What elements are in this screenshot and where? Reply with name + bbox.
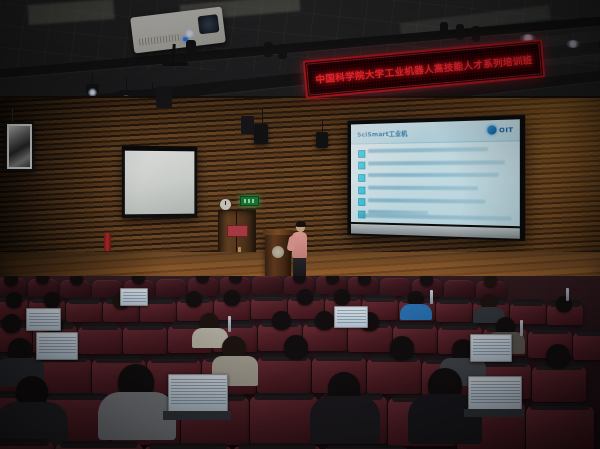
- seat-headrest: [253, 294, 285, 301]
- seat-headrest: [254, 393, 314, 400]
- slide-text-line: [368, 173, 498, 177]
- door-notice-sign: [227, 225, 248, 237]
- attendee-laptop: [334, 306, 368, 328]
- lectern-top: [263, 230, 293, 235]
- slide-logo-text: OIT: [499, 125, 513, 134]
- seat-headrest: [364, 295, 396, 302]
- attendee-head: [224, 290, 240, 306]
- lectern-emblem: [272, 246, 284, 258]
- slide-bullet-row: [358, 186, 513, 196]
- slide-text-line: [368, 160, 505, 165]
- water-bottle: [430, 290, 433, 304]
- fire-extinguisher: [104, 233, 111, 251]
- seat: [532, 366, 586, 402]
- attendee-laptop: [470, 334, 512, 362]
- slide-title: SciSmart工业机: [357, 128, 407, 139]
- spotlight-icon: [566, 40, 580, 48]
- hanging-loudspeaker: [254, 124, 268, 144]
- secondary-projection-screen: [122, 146, 197, 219]
- audience-seating: [0, 276, 600, 449]
- seat-headrest: [530, 403, 590, 410]
- seat: [78, 326, 122, 354]
- lectern: [265, 233, 291, 277]
- bullet-square-icon: [358, 174, 365, 182]
- seat: [66, 300, 102, 322]
- attendee-head: [297, 289, 313, 305]
- bullet-square-icon: [358, 162, 365, 170]
- slide-bullet-row: [358, 147, 513, 158]
- main-projection-screen: SciSmart工业机 OIT: [347, 115, 525, 241]
- track-light: [472, 26, 480, 42]
- slide-text-line: [368, 186, 478, 191]
- slide-logo: OIT: [488, 123, 514, 137]
- slide-text-line: [368, 198, 485, 203]
- presenter-hair: [296, 221, 306, 227]
- picture-hook: [12, 108, 13, 123]
- auditorium-photo-scene: 中国科学院大学工业机器人高技能人才系列培训班 SciSmart工业机 OIT: [0, 0, 600, 449]
- track-light: [264, 42, 273, 57]
- seat-headrest: [315, 354, 363, 361]
- attendee-shoulders: [400, 304, 432, 320]
- attendee-head: [2, 314, 21, 333]
- attendee-head: [6, 292, 22, 308]
- seat-headrest: [47, 393, 107, 400]
- seat: [573, 332, 600, 360]
- seat-headrest: [576, 329, 600, 336]
- seat: [367, 358, 421, 394]
- attendee-head: [334, 289, 350, 305]
- attendee-head: [556, 296, 572, 312]
- attendee-laptop: [36, 332, 78, 360]
- laptop-screen-content: [473, 337, 510, 355]
- attendee-head: [284, 335, 308, 359]
- laptop-screen-content: [171, 377, 226, 404]
- seat-headrest: [396, 322, 435, 329]
- track-light: [456, 24, 464, 40]
- seat-headrest: [149, 443, 226, 449]
- attendee-head: [44, 292, 60, 308]
- seat: [436, 300, 472, 322]
- seat: [380, 278, 410, 296]
- seat: [0, 442, 54, 449]
- secondary-screen-surface: [125, 151, 194, 215]
- seat-headrest: [327, 445, 404, 449]
- wall-loudspeaker: [241, 116, 254, 134]
- attendee-head: [272, 311, 291, 330]
- projector-mount-bracket: [162, 62, 188, 66]
- seat: [252, 276, 282, 294]
- attendee-head: [484, 276, 497, 287]
- exit-sign-icon: [240, 196, 259, 206]
- seat: [123, 326, 167, 354]
- laptop-screen-content: [471, 379, 520, 403]
- seat-headrest: [238, 443, 315, 449]
- seat-headrest: [512, 299, 544, 306]
- seat-headrest: [95, 356, 143, 363]
- attendee-head: [420, 276, 433, 286]
- seat: [250, 396, 318, 444]
- attendee-head: [315, 311, 334, 330]
- water-bottle: [228, 316, 231, 332]
- seat-headrest: [126, 323, 165, 330]
- water-bottle: [520, 320, 523, 336]
- seat-headrest: [81, 323, 120, 330]
- spotlight-icon: [184, 28, 195, 39]
- seat-headrest: [68, 297, 100, 304]
- laptop-screen-content: [29, 311, 59, 326]
- track-light: [186, 40, 196, 54]
- seat: [156, 279, 186, 297]
- attendee-head: [186, 291, 202, 307]
- bullet-square-icon: [358, 150, 365, 158]
- attendee-laptop: [120, 288, 148, 306]
- attendee-laptop: [168, 374, 228, 414]
- seat: [444, 280, 474, 298]
- slide-bullet-row: [358, 173, 513, 182]
- attendee-laptop: [468, 376, 522, 412]
- slide-bullet-row: [358, 160, 513, 170]
- slide-text-line: [368, 147, 488, 153]
- seat: [257, 357, 311, 393]
- portrait-image: [9, 126, 30, 167]
- seat: [526, 406, 594, 449]
- bullet-square-icon: [358, 186, 365, 194]
- attendee-shoulders: [310, 396, 380, 444]
- logo-mark-icon: [488, 125, 497, 135]
- track-light: [278, 44, 287, 59]
- wall-loudspeaker: [156, 86, 172, 108]
- seat-headrest: [216, 321, 255, 328]
- slide-bullet-row: [358, 198, 513, 209]
- laptop-screen-content: [39, 335, 76, 353]
- seat-headrest: [441, 323, 480, 330]
- seat-headrest: [60, 441, 137, 448]
- seat-headrest: [150, 356, 198, 363]
- water-bottle: [566, 288, 569, 301]
- track-light: [440, 22, 448, 38]
- seat-headrest: [0, 439, 49, 446]
- bullet-square-icon: [358, 198, 365, 206]
- slide-surface: SciSmart工业机 OIT: [351, 119, 520, 226]
- hanging-loudspeaker: [316, 132, 328, 148]
- laptop-keyboard-base: [163, 411, 231, 420]
- laptop-keyboard-base: [464, 409, 524, 417]
- attendee-head: [546, 344, 570, 368]
- attendee-laptop: [26, 308, 61, 331]
- laptop-screen-content: [337, 309, 366, 323]
- seat-headrest: [531, 327, 570, 334]
- framed-portrait: [5, 122, 34, 171]
- seat: [55, 444, 143, 449]
- seat-headrest: [438, 297, 470, 304]
- laptop-screen-content: [123, 291, 146, 302]
- seat: [510, 302, 546, 324]
- attendee-head: [390, 336, 414, 360]
